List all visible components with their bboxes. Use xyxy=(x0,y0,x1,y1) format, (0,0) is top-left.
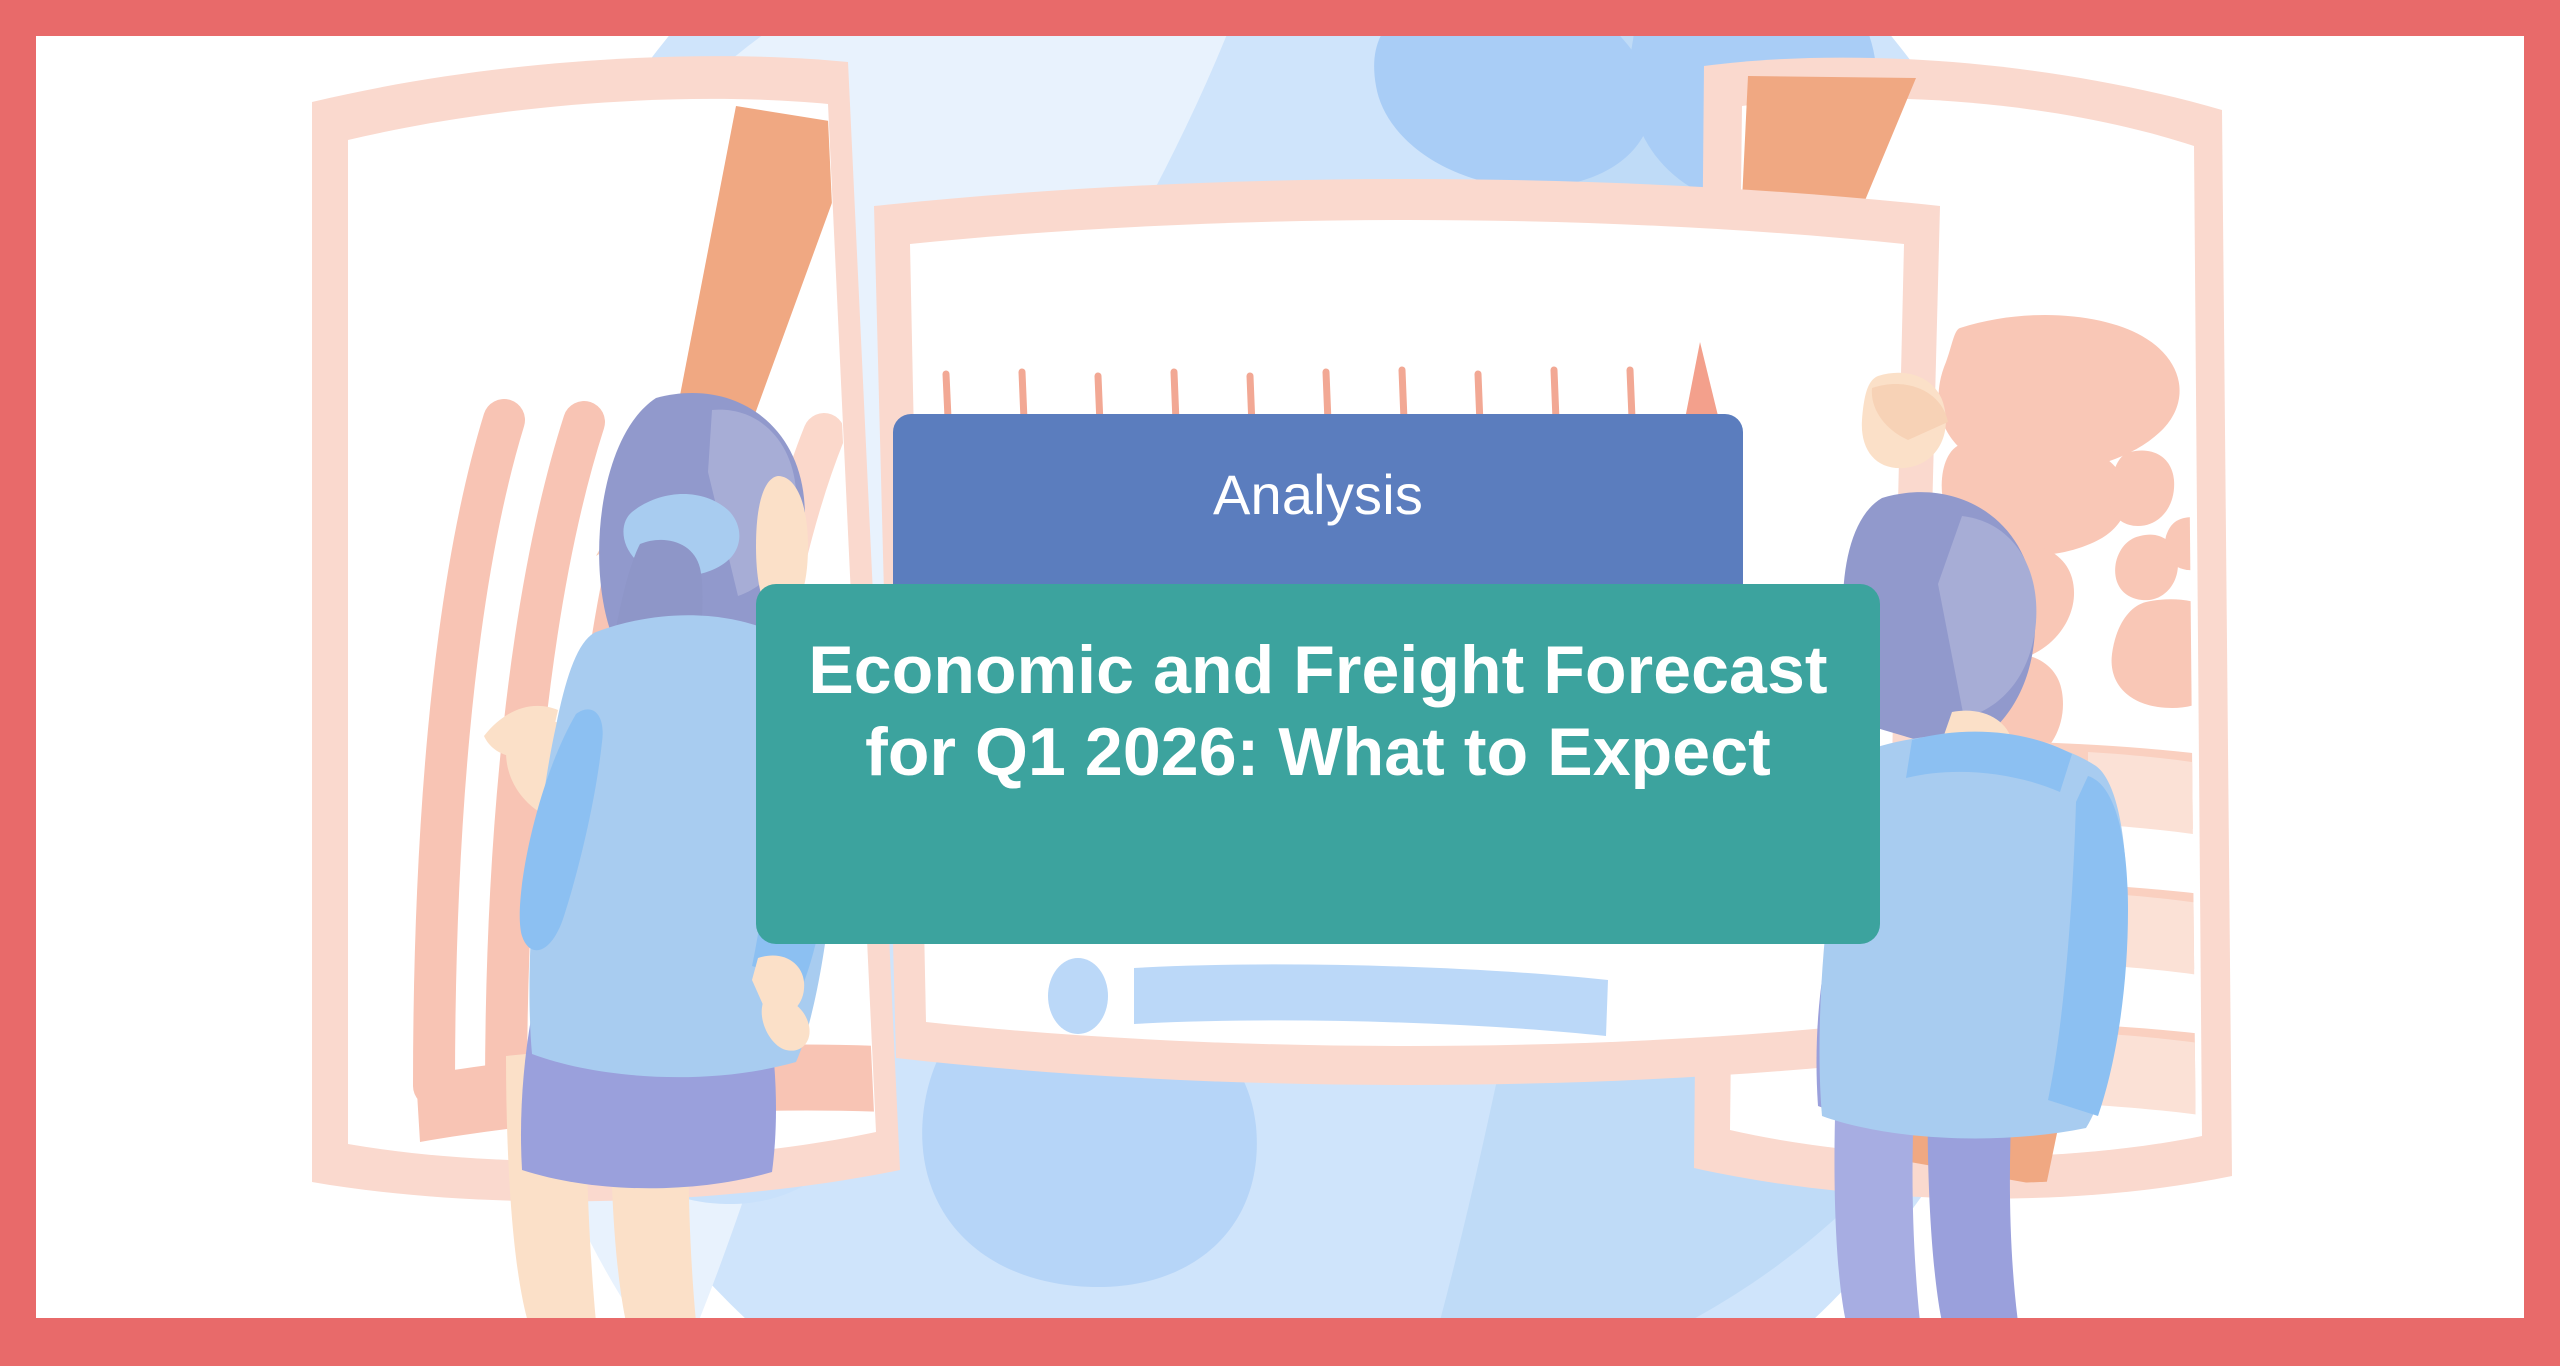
poster-canvas: Analysis Economic and Freight Forecast f… xyxy=(36,36,2524,1318)
poster-frame: Analysis Economic and Freight Forecast f… xyxy=(0,0,2560,1366)
post-title: Economic and Freight Forecast for Q1 202… xyxy=(756,630,1880,793)
category-label: Analysis xyxy=(1213,464,1423,526)
progress-dot xyxy=(1048,958,1108,1034)
title-card[interactable]: Economic and Freight Forecast for Q1 202… xyxy=(756,584,1880,944)
